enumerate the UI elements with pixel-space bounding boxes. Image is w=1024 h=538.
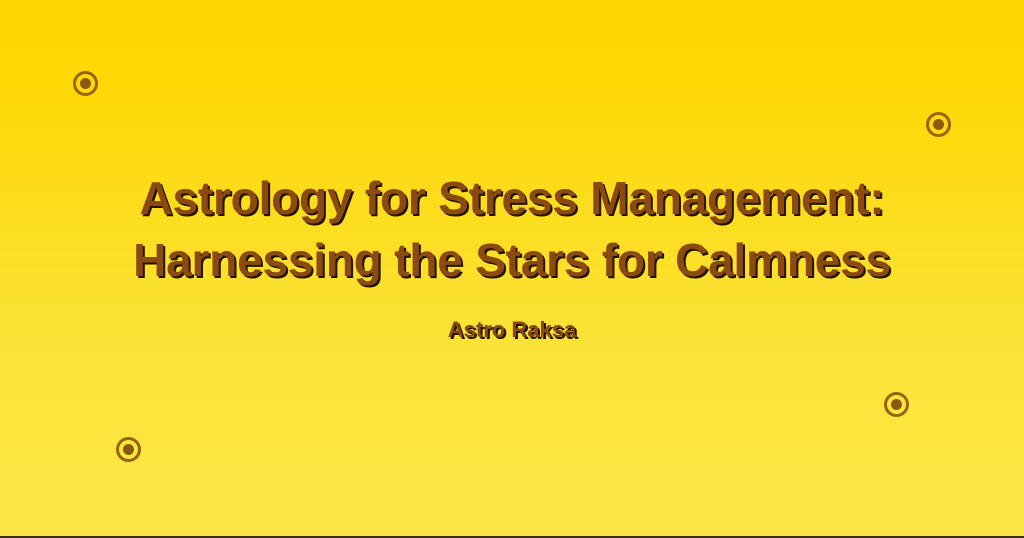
target-circle-center-dot xyxy=(891,399,902,410)
slide-title-line-2: Harnessing the Stars for Calmness xyxy=(133,234,891,286)
target-circle-icon xyxy=(73,71,98,96)
target-circle-center-dot xyxy=(123,444,134,455)
presentation-title-slide: Astrology for Stress Management: Harness… xyxy=(0,0,1024,538)
target-circle-center-dot xyxy=(933,119,944,130)
target-circle-icon xyxy=(116,437,141,462)
target-circle-center-dot xyxy=(80,78,91,89)
slide-title: Astrology for Stress Management: Harness… xyxy=(40,168,984,291)
target-circle-icon xyxy=(926,112,951,137)
target-circle-icon xyxy=(884,392,909,417)
slide-title-line-1: Astrology for Stress Management: xyxy=(139,172,884,224)
title-text-block: Astrology for Stress Management: Harness… xyxy=(0,168,1024,344)
slide-subtitle: Astro Raksa xyxy=(40,317,984,343)
